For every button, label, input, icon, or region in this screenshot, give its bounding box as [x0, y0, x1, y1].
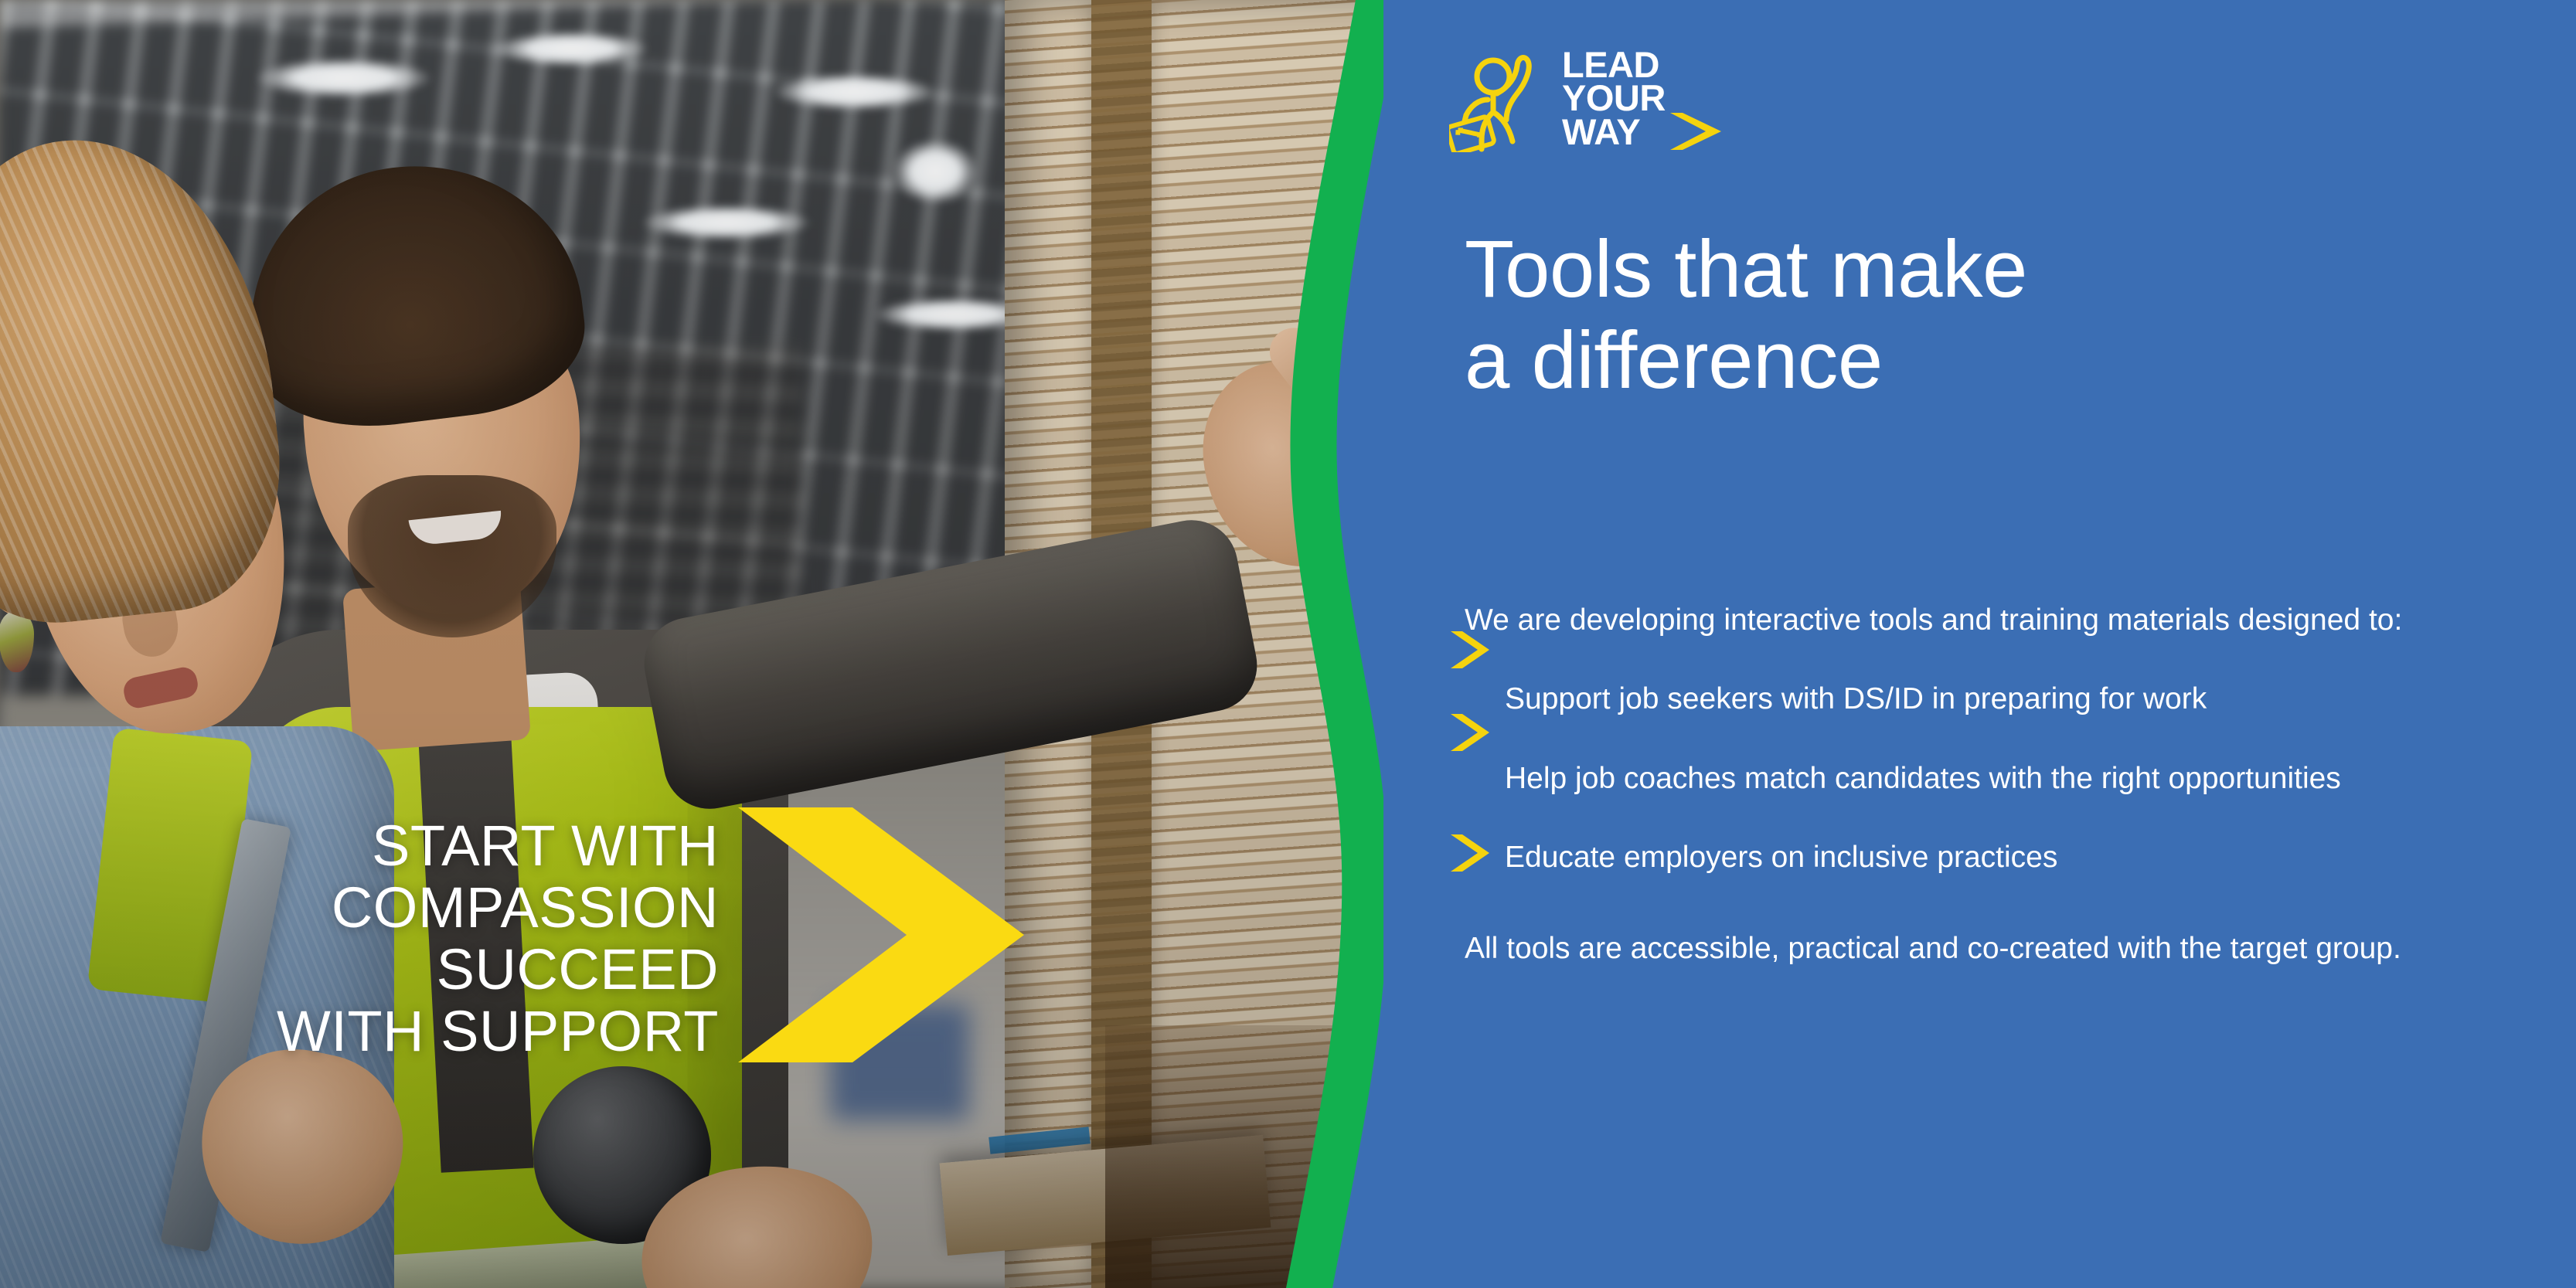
panel-body: We are developing interactive tools and …: [1465, 599, 2500, 1000]
list-item: Support job seekers with DS/ID in prepar…: [1465, 678, 2500, 720]
bullet-text: Help job coaches match candidates with t…: [1505, 762, 2341, 795]
chevron-right-icon: [1449, 630, 1491, 670]
bullet-list: Support job seekers with DS/ID in prepar…: [1465, 678, 2500, 878]
intro-paragraph: We are developing interactive tools and …: [1465, 599, 2500, 641]
chevron-right-icon: [1449, 833, 1491, 873]
page-title: Tools that make a difference: [1465, 224, 2392, 406]
photo-overlay-headline: START WITH COMPASSION SUCCEED WITH SUPPO…: [277, 815, 719, 1062]
overlay-line-2: COMPASSION: [277, 877, 719, 939]
chevron-right-icon: [1669, 111, 1723, 151]
stick-figure-with-briefcase-icon: [1449, 44, 1551, 152]
chevron-right-icon: [1449, 712, 1491, 753]
photo-tint-overlay: [0, 0, 1383, 1288]
presentation-slide: START WITH COMPASSION SUCCEED WITH SUPPO…: [0, 0, 2576, 1288]
headline-line-2: a difference: [1465, 315, 2392, 406]
warehouse-photo: [0, 0, 1383, 1288]
overlay-line-3: SUCCEED: [277, 939, 719, 1001]
photo-panel: START WITH COMPASSION SUCCEED WITH SUPPO…: [0, 0, 1383, 1288]
list-item: Educate employers on inclusive practices: [1465, 836, 2500, 878]
logo-line-your: YOUR: [1562, 81, 1666, 114]
list-item: Help job coaches match candidates with t…: [1465, 757, 2500, 800]
overlay-line-1: START WITH: [277, 815, 719, 877]
bullet-text: Support job seekers with DS/ID in prepar…: [1505, 682, 2207, 715]
logo-line-way: WAY: [1562, 115, 1666, 148]
overlay-line-4: WITH SUPPORT: [277, 1001, 719, 1062]
logo-line-lead: LEAD: [1562, 48, 1666, 81]
bullet-text: Educate employers on inclusive practices: [1505, 841, 2057, 874]
lead-your-way-logo[interactable]: LEAD YOUR WAY: [1449, 40, 1696, 156]
logo-wordmark: LEAD YOUR WAY: [1562, 48, 1666, 148]
outro-paragraph: All tools are accessible, practical and …: [1465, 927, 2500, 970]
chevron-right-large-icon: [738, 807, 1024, 1062]
headline-line-1: Tools that make: [1465, 224, 2392, 315]
